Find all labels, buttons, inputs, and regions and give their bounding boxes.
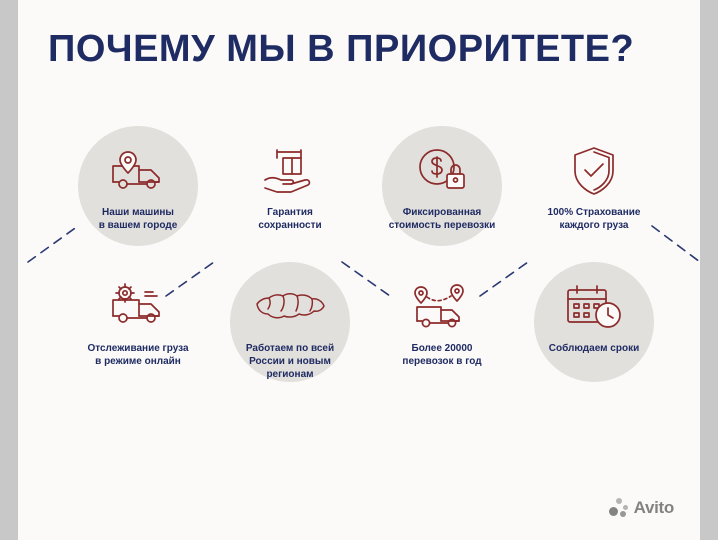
screenshot-root: ПОЧЕМУ МЫ В ПРИОРИТЕТЕ?	[0, 0, 718, 540]
left-gutter	[0, 0, 18, 540]
node-label: Более 20000 перевозок в год	[372, 342, 512, 368]
node-label: Гарантия сохранности	[220, 206, 360, 232]
truck-route-icon	[372, 276, 512, 338]
infographic-canvas: ПОЧЕМУ МЫ В ПРИОРИТЕТЕ?	[18, 0, 700, 540]
node-insurance: 100% Страхование каждого груза	[524, 126, 664, 232]
hand-box-icon	[220, 140, 360, 202]
avito-watermark: Avito	[609, 498, 674, 518]
avito-logo-icon	[609, 498, 629, 518]
node-label: Наши машины в вашем городе	[68, 206, 208, 232]
shield-check-icon	[524, 140, 664, 202]
node-fixed-price: Фиксированная стоимость перевозки	[372, 126, 512, 232]
russia-map-icon	[220, 276, 360, 338]
dollar-lock-icon	[372, 140, 512, 202]
node-label: 100% Страхование каждого груза	[524, 206, 664, 232]
node-online-tracking: Отслеживание груза в режиме онлайн	[68, 262, 208, 368]
node-cargo-safety: Гарантия сохранности	[220, 126, 360, 232]
truck-pin-icon	[68, 140, 208, 202]
node-label: Работаем по всей России и новым регионам	[220, 342, 360, 381]
avito-watermark-text: Avito	[634, 498, 674, 518]
page-title: ПОЧЕМУ МЫ В ПРИОРИТЕТЕ?	[48, 28, 634, 71]
calendar-clock-icon	[524, 276, 664, 338]
node-on-time: Соблюдаем сроки	[524, 262, 664, 355]
node-shipments-count: Более 20000 перевозок в год	[372, 262, 512, 368]
node-label: Отслеживание груза в режиме онлайн	[68, 342, 208, 368]
node-label: Соблюдаем сроки	[524, 342, 664, 355]
right-gutter	[700, 0, 718, 540]
truck-gear-icon	[68, 276, 208, 338]
node-label: Фиксированная стоимость перевозки	[372, 206, 512, 232]
node-all-russia: Работаем по всей России и новым регионам	[220, 262, 360, 381]
node-own-trucks: Наши машины в вашем городе	[68, 126, 208, 232]
